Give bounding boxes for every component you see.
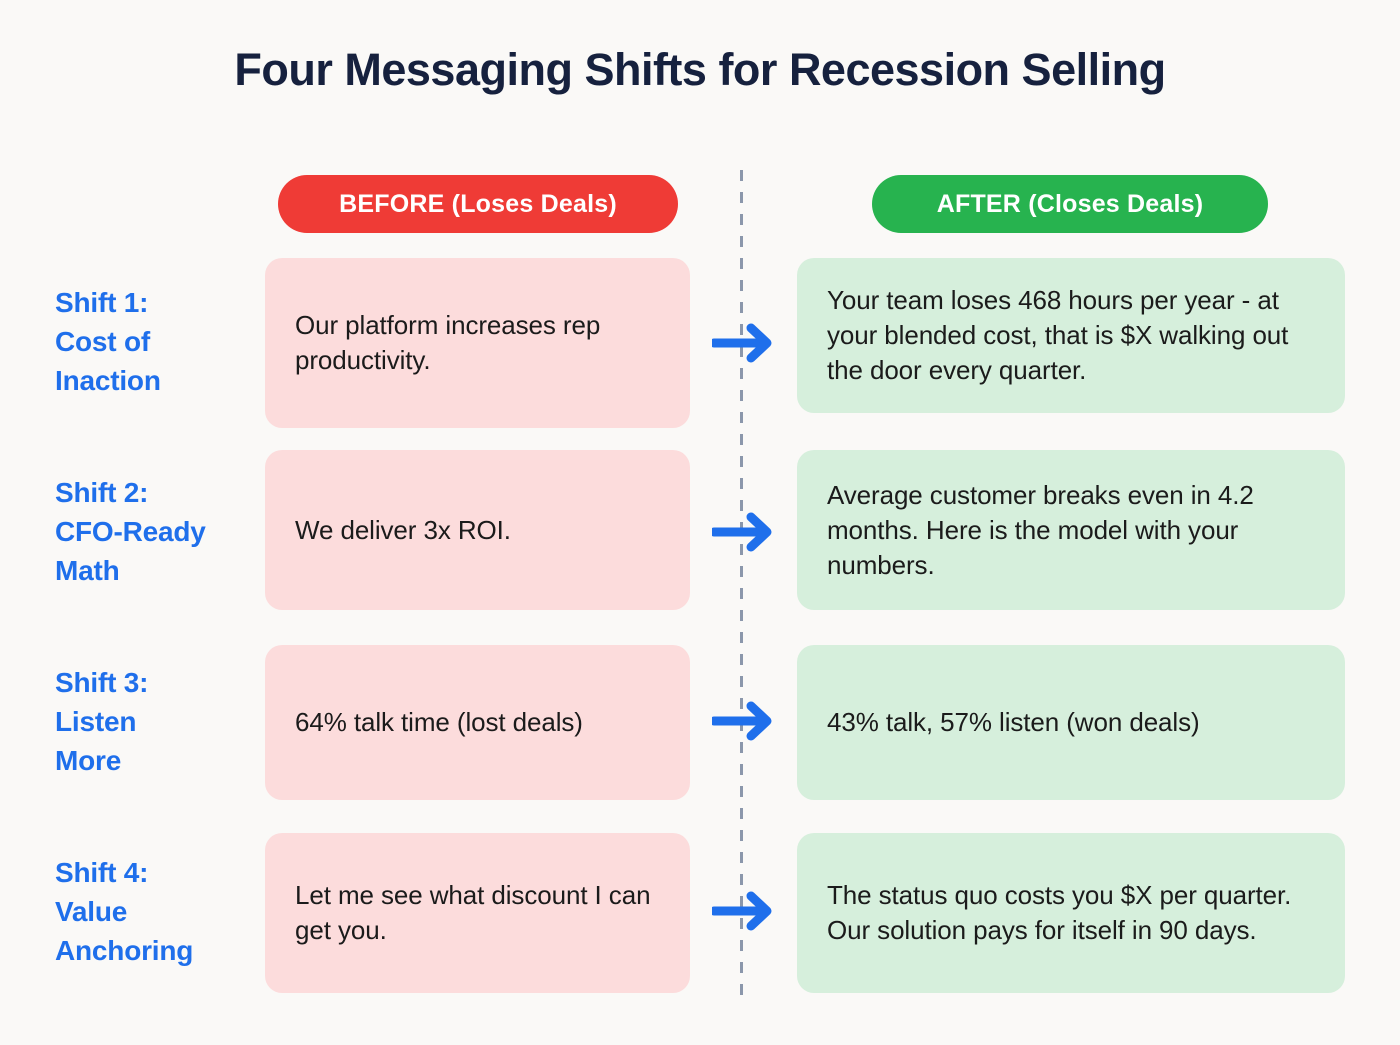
- shift-label-4: Shift 4: Value Anchoring: [55, 853, 260, 970]
- column-header-after: AFTER (Closes Deals): [872, 175, 1268, 233]
- shift-label-3: Shift 3: Listen More: [55, 663, 260, 780]
- before-card-3: 64% talk time (lost deals): [265, 645, 690, 800]
- arrow-right-icon: [712, 700, 774, 742]
- infographic-canvas: Four Messaging Shifts for Recession Sell…: [0, 0, 1400, 1045]
- after-card-3-text: 43% talk, 57% listen (won deals): [827, 705, 1200, 740]
- column-header-before: BEFORE (Loses Deals): [278, 175, 678, 233]
- column-divider: [740, 170, 743, 995]
- before-card-4-text: Let me see what discount I can get you.: [295, 878, 660, 948]
- after-card-1-text: Your team loses 468 hours per year - at …: [827, 283, 1315, 388]
- after-card-1: Your team loses 468 hours per year - at …: [797, 258, 1345, 413]
- before-card-1: Our platform increases rep productivity.: [265, 258, 690, 428]
- before-card-3-text: 64% talk time (lost deals): [295, 705, 583, 740]
- after-card-2: Average customer breaks even in 4.2 mont…: [797, 450, 1345, 610]
- before-card-2: We deliver 3x ROI.: [265, 450, 690, 610]
- arrow-right-icon: [712, 890, 774, 932]
- shift-label-1: Shift 1: Cost of Inaction: [55, 283, 260, 400]
- page-title: Four Messaging Shifts for Recession Sell…: [0, 44, 1400, 96]
- before-card-1-text: Our platform increases rep productivity.: [295, 308, 660, 378]
- after-card-4: The status quo costs you $X per quarter.…: [797, 833, 1345, 993]
- before-card-2-text: We deliver 3x ROI.: [295, 513, 511, 548]
- after-card-4-text: The status quo costs you $X per quarter.…: [827, 878, 1315, 948]
- after-card-3: 43% talk, 57% listen (won deals): [797, 645, 1345, 800]
- shift-label-2: Shift 2: CFO-Ready Math: [55, 473, 260, 590]
- arrow-right-icon: [712, 511, 774, 553]
- column-header-after-label: AFTER (Closes Deals): [937, 190, 1204, 219]
- arrow-right-icon: [712, 322, 774, 364]
- column-header-before-label: BEFORE (Loses Deals): [339, 190, 617, 219]
- before-card-4: Let me see what discount I can get you.: [265, 833, 690, 993]
- after-card-2-text: Average customer breaks even in 4.2 mont…: [827, 478, 1315, 583]
